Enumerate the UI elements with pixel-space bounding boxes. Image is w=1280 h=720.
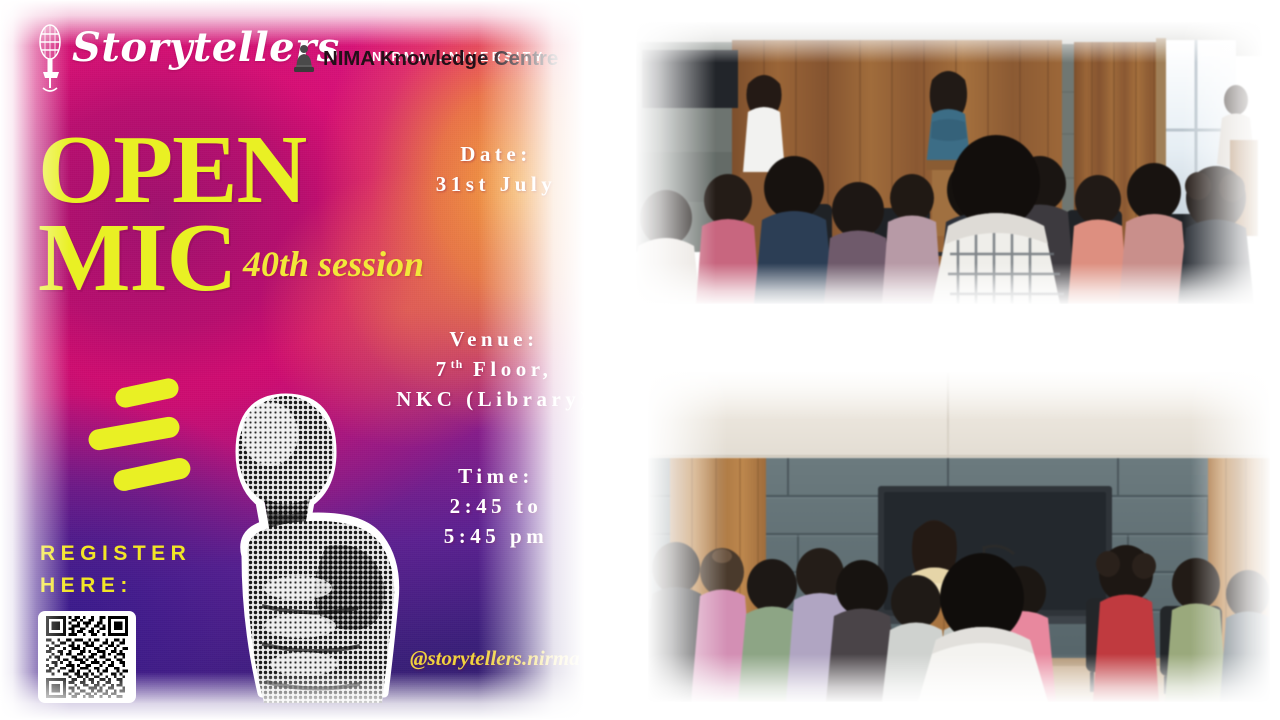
open-mic-session-audience-photo-top (636, 22, 1262, 304)
venue-floor-ordinal-suffix: th (451, 357, 464, 371)
seated-reader-figure-icon (292, 44, 316, 74)
open-mic-session-speaker-photo-bottom (648, 372, 1270, 702)
headline-line-open: OPEN (38, 128, 306, 212)
screenshot-canvas: Storytellers NIRMA UNIVERSITY NIMA Knowl… (0, 0, 1280, 720)
poster-top-fade (0, 0, 618, 46)
poster-left-fade (0, 0, 70, 720)
open-mic-event-poster: Storytellers NIRMA UNIVERSITY NIMA Knowl… (0, 0, 618, 720)
session-number-label: 40th session (243, 243, 424, 285)
venue-floor-number: 7 (436, 357, 451, 381)
halftone-hand-microphone-graphic (178, 360, 413, 715)
poster-bottom-fade (0, 672, 618, 720)
poster-right-fade (478, 0, 618, 720)
